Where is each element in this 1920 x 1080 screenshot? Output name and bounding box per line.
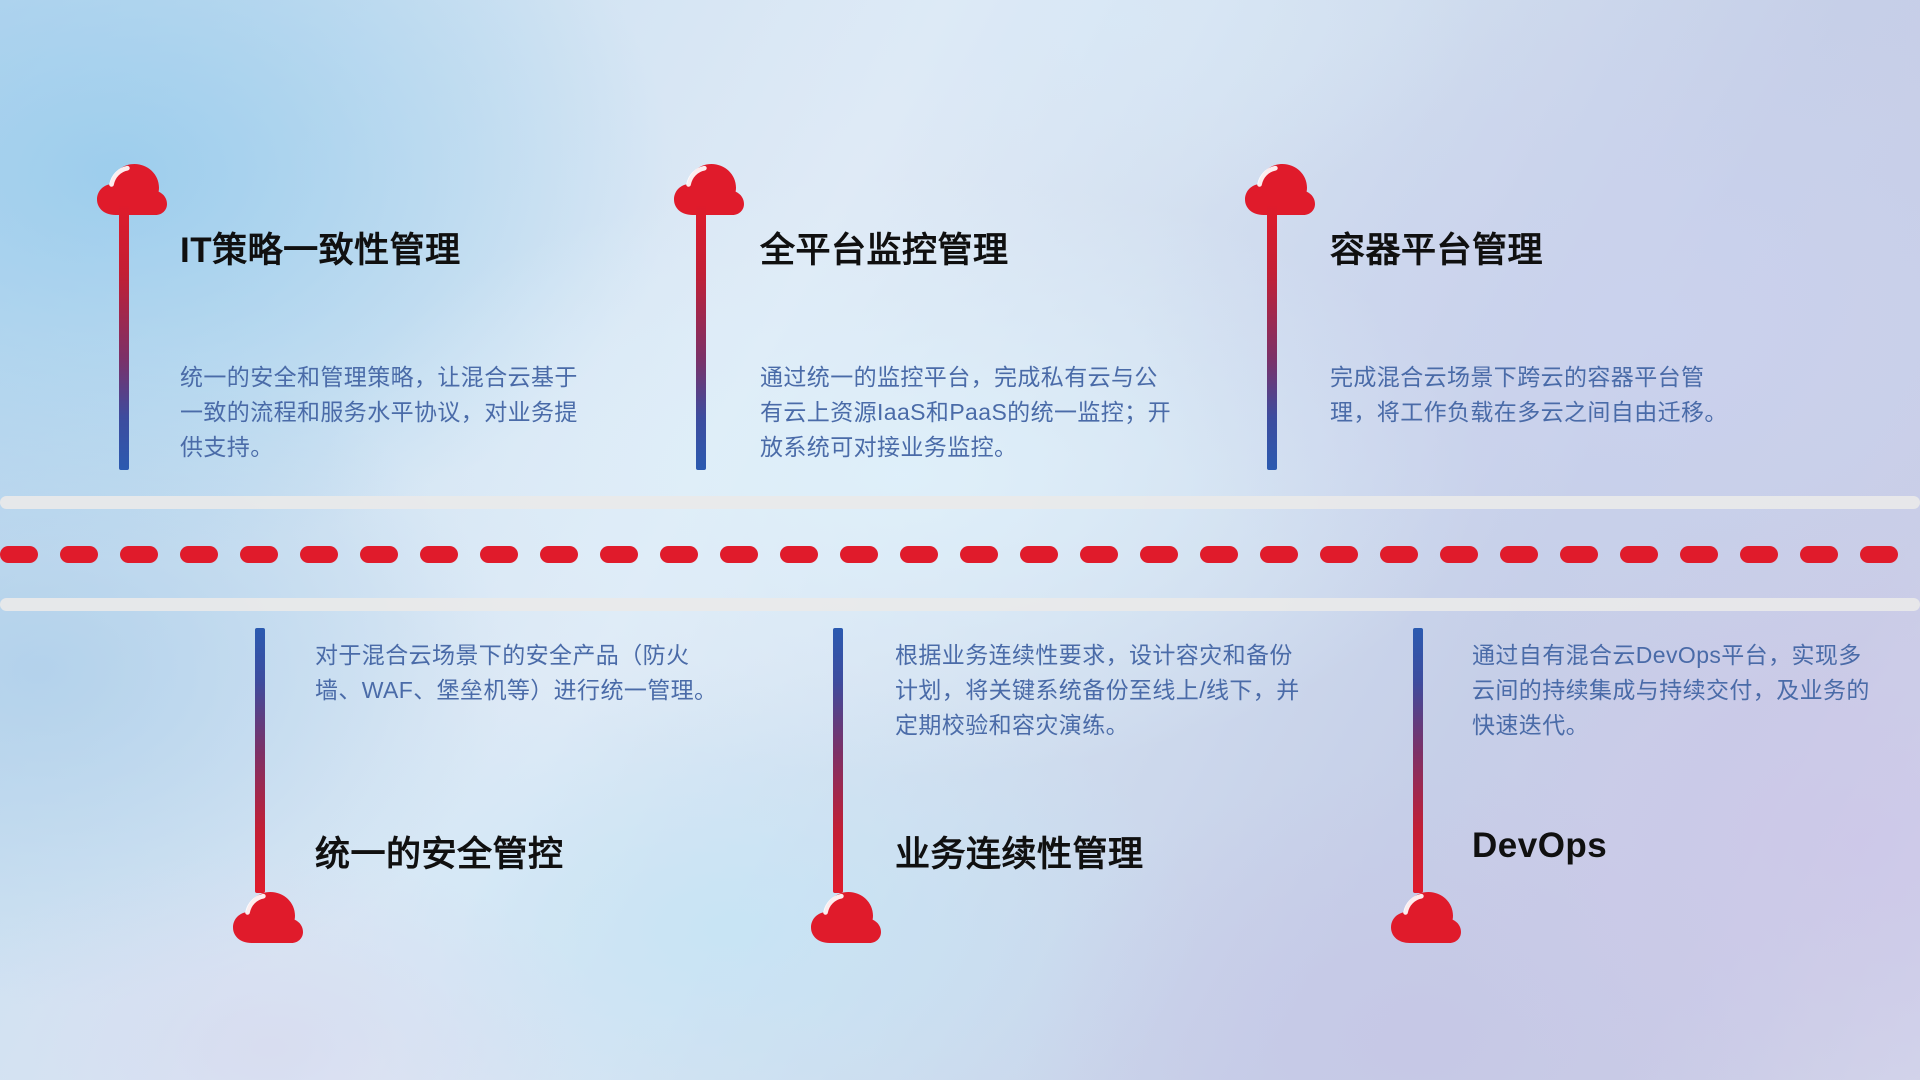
pin-body-text: 通过自有混合云DevOps平台，实现多云间的持续集成与持续交付，及业务的快速迭代…: [1472, 638, 1872, 743]
road-dash: [540, 546, 578, 563]
road-dash: [1140, 546, 1178, 563]
road-dash: [1680, 546, 1718, 563]
road-dash: [1380, 546, 1418, 563]
pin-body-text: 根据业务连续性要求，设计容灾和备份计划，将关键系统备份至线上/线下，并定期校验和…: [895, 638, 1315, 743]
cloud-pin-icon: [1243, 160, 1317, 216]
road-rail-bottom: [0, 598, 1920, 611]
pin-stem: [1267, 205, 1277, 470]
road-dash: [1740, 546, 1778, 563]
road-dash: [600, 546, 638, 563]
pin-heading: 容器平台管理: [1330, 222, 1543, 273]
road-rail-top: [0, 496, 1920, 509]
pin-body-text: 对于混合云场景下的安全产品（防火墙、WAF、堡垒机等）进行统一管理。: [315, 638, 735, 708]
pin-stem: [119, 205, 129, 470]
road-dash: [1080, 546, 1118, 563]
road-dash: [1620, 546, 1658, 563]
cloud-pin-icon: [231, 888, 305, 944]
pin-stem: [255, 628, 265, 893]
road-dash: [180, 546, 218, 563]
road-dash: [1260, 546, 1298, 563]
road-dash: [240, 546, 278, 563]
road-dash: [1800, 546, 1838, 563]
road-dash: [660, 546, 698, 563]
road-dash: [1860, 546, 1898, 563]
road-dash: [480, 546, 518, 563]
road-dash: [1200, 546, 1238, 563]
pin-heading: DevOps: [1472, 826, 1607, 866]
road-dash: [1500, 546, 1538, 563]
road-dash: [1320, 546, 1358, 563]
road-dash: [1440, 546, 1478, 563]
road-dash: [840, 546, 878, 563]
road-dash: [960, 546, 998, 563]
road-dash: [780, 546, 818, 563]
cloud-pin-icon: [95, 160, 169, 216]
cloud-pin-icon: [672, 160, 746, 216]
road-dash: [1020, 546, 1058, 563]
road-dash: [1560, 546, 1598, 563]
road-dash: [900, 546, 938, 563]
pin-heading: 业务连续性管理: [895, 826, 1144, 877]
cloud-pin-icon: [809, 888, 883, 944]
pin-stem: [696, 205, 706, 470]
road-dashed-centerline: [0, 546, 1920, 563]
pin-body-text: 统一的安全和管理策略，让混合云基于一致的流程和服务水平协议，对业务提供支持。: [180, 360, 600, 465]
road-dash: [360, 546, 398, 563]
road-dash: [120, 546, 158, 563]
pin-heading: 全平台监控管理: [760, 222, 1009, 273]
pin-stem: [833, 628, 843, 893]
road-dash: [60, 546, 98, 563]
pin-heading: IT策略一致性管理: [180, 222, 461, 273]
road-dash: [300, 546, 338, 563]
road-dash: [0, 546, 38, 563]
road-dash: [720, 546, 758, 563]
pin-body-text: 完成混合云场景下跨云的容器平台管理，将工作负载在多云之间自由迁移。: [1330, 360, 1750, 430]
pin-heading: 统一的安全管控: [315, 826, 564, 877]
road-dash: [420, 546, 458, 563]
pin-body-text: 通过统一的监控平台，完成私有云与公有云上资源IaaS和PaaS的统一监控；开放系…: [760, 360, 1180, 465]
cloud-pin-icon: [1389, 888, 1463, 944]
pin-stem: [1413, 628, 1423, 893]
